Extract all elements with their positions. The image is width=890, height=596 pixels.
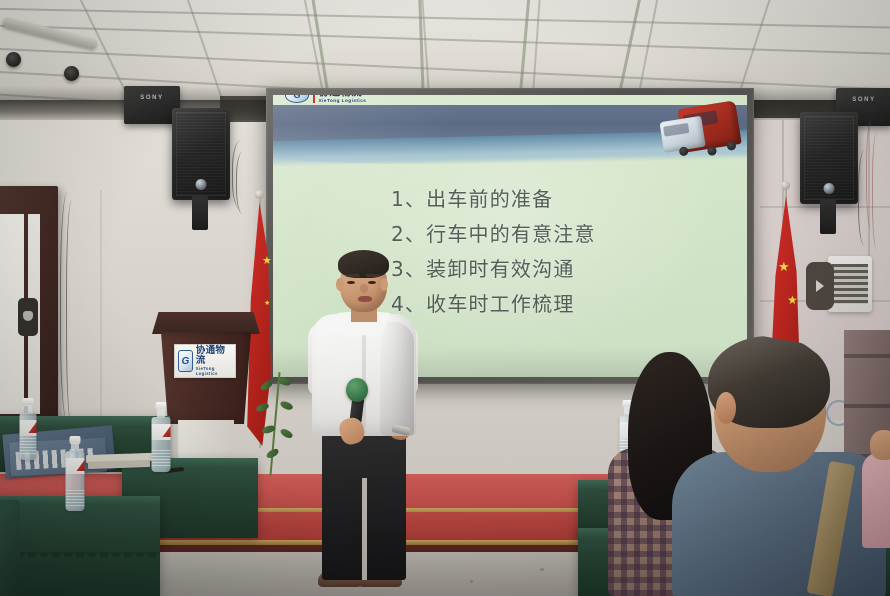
speaker-brand-label: SONY	[852, 97, 875, 103]
brand-mark-icon: G	[285, 95, 309, 103]
speaker-cable	[858, 150, 874, 246]
speaker-driver-icon	[196, 179, 207, 190]
photo-scene: G 协通物流 XieTong Logistics 1、出车前的准备	[0, 0, 890, 596]
bottle-label	[20, 420, 37, 436]
audience-member-man	[688, 336, 888, 596]
flag-star-icon: ★	[264, 300, 270, 307]
lectern-top	[152, 312, 260, 334]
wall-speaker-large-left	[172, 108, 230, 200]
flag-star-icon: ★	[787, 294, 798, 306]
brand-mark-icon: G	[178, 350, 193, 372]
audience-head	[870, 430, 890, 460]
chair-back	[0, 500, 20, 596]
speaker-bracket	[820, 200, 836, 234]
microphone-head	[346, 378, 368, 402]
vent-louvers	[832, 264, 868, 304]
track-lamp-icon	[6, 52, 21, 67]
audience-member-pink	[862, 430, 890, 550]
brand-wordmark: 协通物流 XieTong Logistics	[319, 95, 367, 104]
presenter-brow	[366, 274, 380, 277]
wall-mounted-vent	[828, 256, 872, 312]
audience-pink-top	[862, 452, 890, 548]
leg-gap	[362, 478, 367, 580]
plant-leaf	[259, 379, 274, 392]
brand-name-en: XieTong Logistics	[319, 99, 367, 104]
presenter-ear	[336, 278, 344, 291]
potted-plant	[254, 372, 300, 484]
audience-ear	[716, 392, 736, 424]
track-lamp-icon	[64, 66, 79, 81]
truck-wheel-icon	[726, 141, 736, 151]
bottle-label	[152, 424, 171, 440]
document-sheet	[88, 460, 150, 469]
lectern-wordmark: 协通物流 XieTong Logistics	[196, 346, 232, 375]
water-bottle[interactable]	[64, 436, 86, 512]
plant-leaf	[255, 402, 270, 413]
truck-wheel-icon	[707, 146, 717, 156]
brand-name-en: XieTong Logistics	[196, 367, 232, 375]
door-handle[interactable]	[18, 298, 38, 336]
truck-wheel-icon	[679, 146, 689, 156]
presenter-nose	[360, 284, 368, 293]
brand-name-cn: 协通物流	[196, 346, 232, 365]
slide-bullet: 2、行车中的有意注意	[391, 218, 596, 247]
shirt-shading	[380, 322, 414, 436]
bottle-ribs	[66, 490, 85, 506]
plant-leaf	[277, 376, 292, 387]
floor-speck	[470, 580, 473, 583]
flag-finial-icon	[781, 181, 790, 190]
wall-cable	[66, 200, 80, 426]
flag-star-icon: ★	[778, 260, 790, 273]
presenter-mouth	[358, 296, 372, 302]
plant-stem	[269, 372, 280, 476]
bottle-ribs	[20, 438, 37, 454]
flag-finial-icon	[255, 190, 264, 199]
plant-leaf	[279, 427, 294, 440]
plant-leaf	[279, 399, 294, 411]
speaker-bracket	[192, 196, 208, 230]
wall-seam	[100, 190, 102, 440]
slide-brand-logo: G 协通物流 XieTong Logistics	[285, 95, 366, 104]
flag-star-icon: ★	[262, 256, 272, 267]
lectern-brand-plate: G 协通物流 XieTong Logistics	[174, 344, 236, 378]
water-bottle[interactable]	[18, 398, 38, 460]
floor-speck	[540, 568, 544, 571]
speaker-driver-icon	[824, 183, 835, 194]
tablecloth-scallop	[0, 552, 160, 562]
slide-bullet: 1、出车前的准备	[391, 183, 596, 212]
bottle-label	[66, 458, 85, 474]
presenter	[296, 250, 422, 596]
presenter-brow	[346, 274, 360, 277]
bottle-ribs	[152, 450, 171, 466]
logo-divider	[313, 95, 315, 103]
water-bottle[interactable]	[150, 402, 172, 472]
speaker-brand-label: SONY	[140, 95, 163, 101]
documents-stack	[86, 454, 156, 474]
play-icon	[816, 280, 824, 292]
presenter-ear	[380, 278, 388, 291]
